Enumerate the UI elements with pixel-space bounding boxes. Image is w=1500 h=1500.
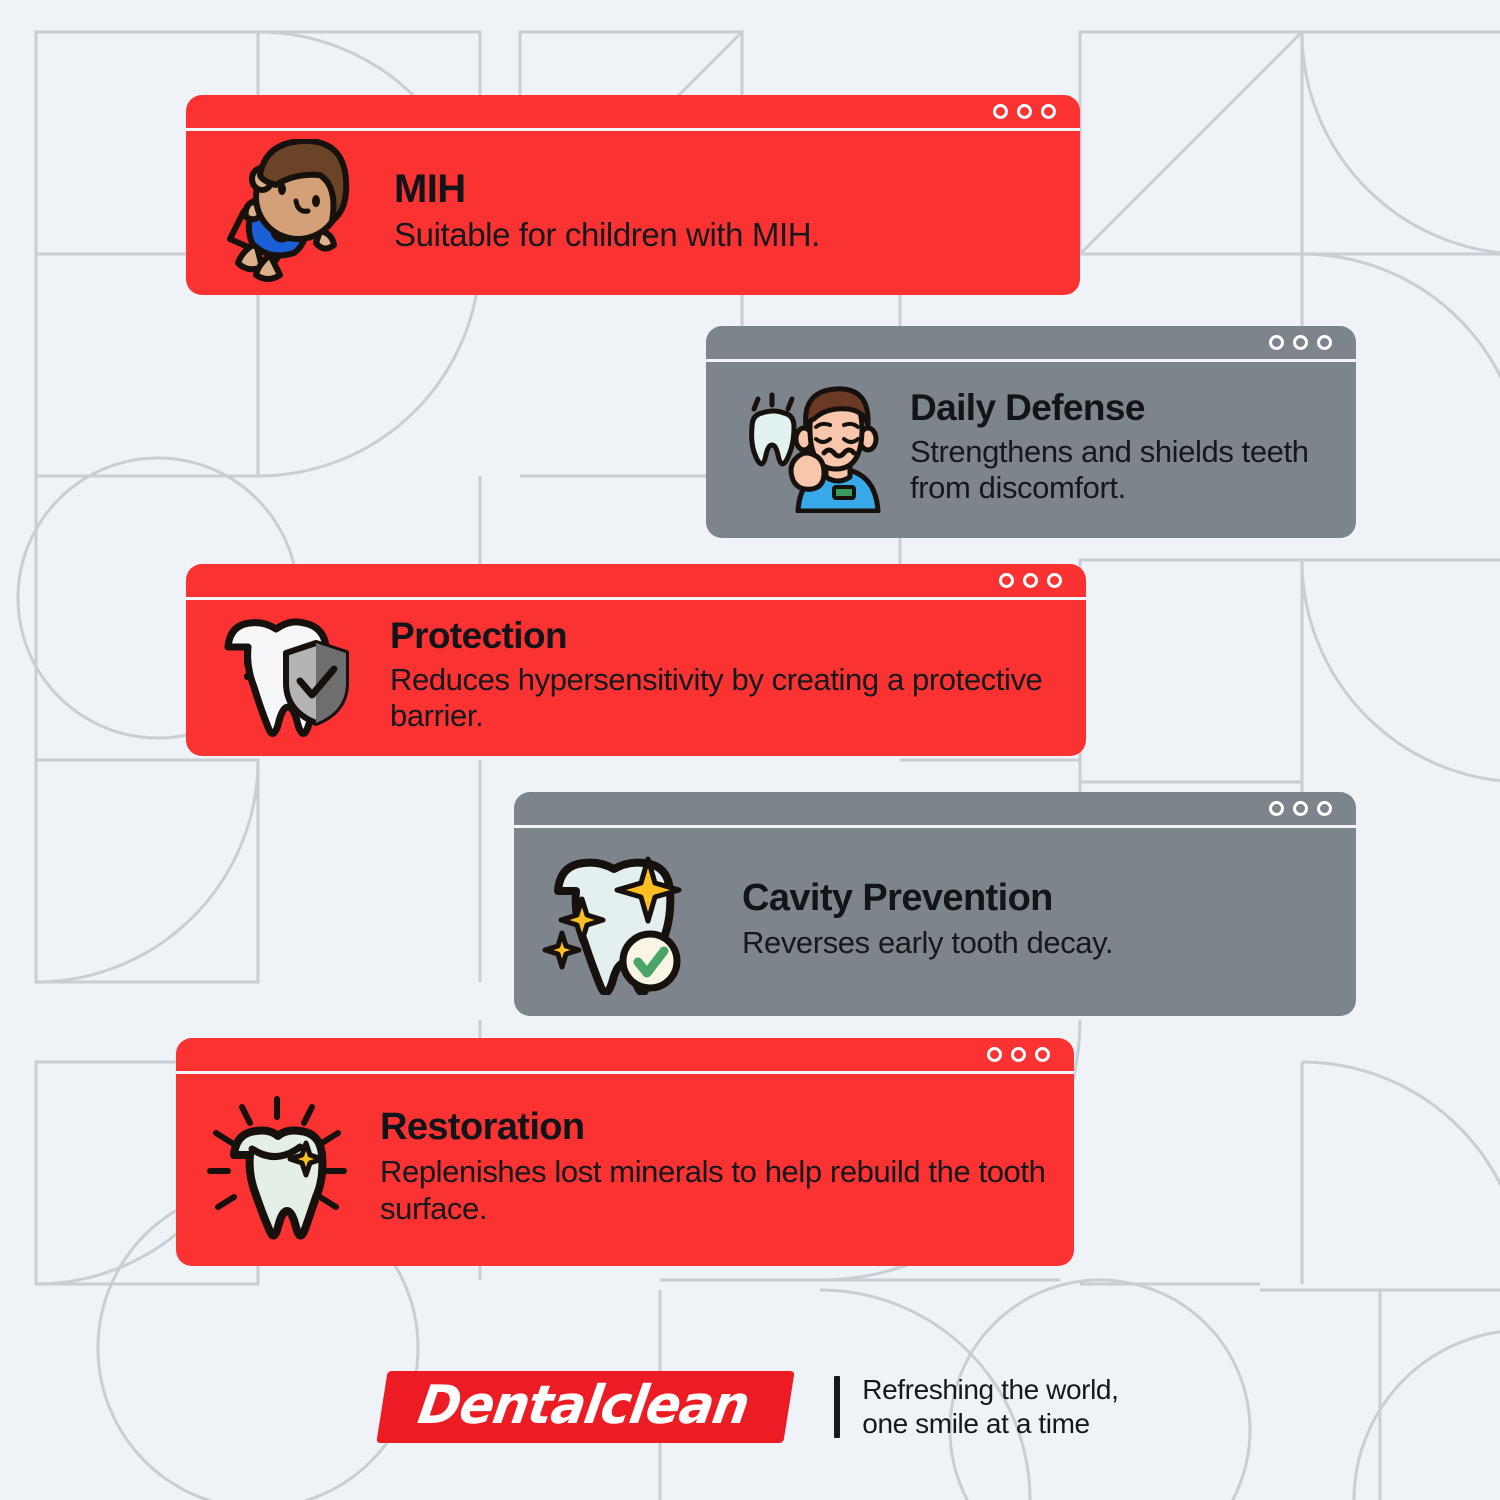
window-controls[interactable]	[1269, 335, 1332, 350]
window-controls[interactable]	[987, 1047, 1050, 1062]
card-titlebar	[514, 792, 1356, 828]
card-title: Daily Defense	[910, 389, 1328, 428]
card-text: Cavity Prevention Reverses early tooth d…	[690, 879, 1336, 961]
card-title: Protection	[390, 617, 1058, 656]
dentalclean-logo[interactable]: Dentalclean	[376, 1371, 794, 1443]
window-controls[interactable]	[993, 104, 1056, 119]
card-text: Daily Defense Strengthens and shields te…	[890, 389, 1336, 507]
brand-tagline: Refreshing the world, one smile at a tim…	[862, 1373, 1118, 1441]
window-dot-3-icon[interactable]	[1317, 335, 1332, 350]
card-titlebar	[186, 95, 1080, 131]
card-text: Restoration Replenishes lost minerals to…	[352, 1108, 1054, 1227]
window-dot-2-icon[interactable]	[1293, 801, 1308, 816]
card-description: Suitable for children with MIH.	[394, 216, 1052, 255]
card-body: Cavity Prevention Reverses early tooth d…	[514, 828, 1356, 1016]
man-toothache-icon	[742, 383, 890, 513]
card-body: Protection Reduces hypersensitivity by c…	[186, 600, 1086, 756]
window-dot-3-icon[interactable]	[1041, 104, 1056, 119]
window-controls[interactable]	[999, 573, 1062, 588]
sparkling-tooth-check-icon	[540, 845, 690, 995]
feature-card-mih[interactable]: MIH Suitable for children with MIH.	[186, 95, 1080, 295]
window-dot-2-icon[interactable]	[1293, 335, 1308, 350]
window-dot-1-icon[interactable]	[993, 104, 1008, 119]
shining-tooth-icon	[202, 1093, 352, 1243]
window-dot-2-icon[interactable]	[1017, 104, 1032, 119]
card-description: Reduces hypersensitivity by creating a p…	[390, 662, 1058, 735]
window-dot-1-icon[interactable]	[999, 573, 1014, 588]
tooth-shield-icon	[212, 613, 352, 739]
footer: Dentalclean Refreshing the world, one sm…	[0, 1352, 1500, 1462]
card-title: MIH	[394, 168, 1052, 210]
window-dot-1-icon[interactable]	[1269, 335, 1284, 350]
card-text: MIH Suitable for children with MIH.	[362, 168, 1060, 255]
window-dot-3-icon[interactable]	[1317, 801, 1332, 816]
card-titlebar	[176, 1038, 1074, 1074]
feature-card-cavity-prevention[interactable]: Cavity Prevention Reverses early tooth d…	[514, 792, 1356, 1016]
card-body: Daily Defense Strengthens and shields te…	[706, 362, 1356, 538]
window-dot-2-icon[interactable]	[1023, 573, 1038, 588]
brand-name: Dentalclean	[414, 1378, 752, 1434]
feature-card-protection[interactable]: Protection Reduces hypersensitivity by c…	[186, 564, 1086, 756]
card-description: Reverses early tooth decay.	[742, 925, 1328, 962]
tagline-line-1: Refreshing the world,	[862, 1373, 1118, 1407]
feature-card-daily-defense[interactable]: Daily Defense Strengthens and shields te…	[706, 326, 1356, 538]
window-dot-2-icon[interactable]	[1011, 1047, 1026, 1062]
card-description: Replenishes lost minerals to help rebuil…	[380, 1154, 1046, 1227]
tagline-line-2: one smile at a time	[862, 1407, 1118, 1441]
window-dot-3-icon[interactable]	[1047, 573, 1062, 588]
feature-card-restoration[interactable]: Restoration Replenishes lost minerals to…	[176, 1038, 1074, 1266]
card-titlebar	[186, 564, 1086, 600]
card-body: Restoration Replenishes lost minerals to…	[176, 1074, 1074, 1266]
window-dot-1-icon[interactable]	[987, 1047, 1002, 1062]
superhero-child-icon	[212, 139, 362, 284]
card-body: MIH Suitable for children with MIH.	[186, 131, 1080, 295]
card-titlebar	[706, 326, 1356, 362]
card-title: Restoration	[380, 1108, 1046, 1148]
window-dot-3-icon[interactable]	[1035, 1047, 1050, 1062]
window-dot-1-icon[interactable]	[1269, 801, 1284, 816]
card-description: Strengthens and shields teeth from disco…	[910, 434, 1328, 507]
footer-divider	[834, 1376, 840, 1438]
card-text: Protection Reduces hypersensitivity by c…	[352, 617, 1066, 735]
card-title: Cavity Prevention	[742, 879, 1328, 919]
window-controls[interactable]	[1269, 801, 1332, 816]
